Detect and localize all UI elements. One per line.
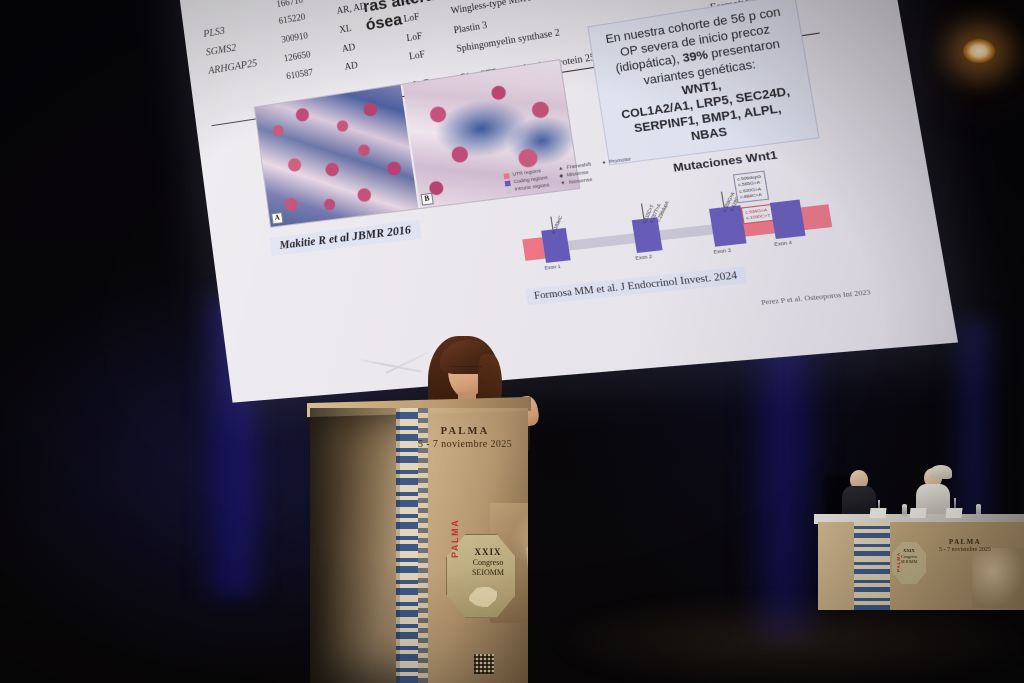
- congress-logo-vertical-palma: PALMA: [450, 519, 460, 558]
- panel-head-table: XXIX Congreso SEIOMM PALMA PALMA 5 - 7 n…: [818, 470, 1024, 610]
- legend-marker-item: ● Promoter: [602, 156, 631, 167]
- legend-marker-nonsense: Nonsense: [568, 176, 592, 186]
- cohort-callout-box: En nuestra cohorte de 56 p con OP severa…: [587, 0, 819, 165]
- table-logo-vertical-palma: PALMA: [896, 552, 901, 572]
- histology-panel-a: A: [255, 85, 418, 227]
- citation-makitie: Makitie R et al JBMR 2016: [270, 220, 422, 256]
- speaker-glasses: [452, 366, 482, 374]
- wnt1-gene-diagram: Exon 1 c.-18delC Exon 2 c.110C>T c.287T>…: [519, 182, 835, 278]
- congress-logo-text: XXIX Congreso SEIOMM: [459, 547, 517, 577]
- congress-edition: XXIX: [459, 547, 517, 558]
- podium-shadow-side: [310, 408, 400, 683]
- exon-block-4: [770, 200, 806, 239]
- projection-screen: genéticas de osteoporosis ras alteracion…: [177, 0, 958, 403]
- legend-marker-promoter: Promoter: [609, 156, 632, 166]
- legend-swatch-utr: [503, 173, 509, 179]
- citation-perez: Perez P et al. Osteoporos Int 2023: [761, 289, 872, 307]
- paper-document-left: [869, 508, 886, 518]
- exon-label-4: Exon 4: [774, 240, 793, 248]
- paper-document-right: [945, 508, 962, 518]
- mutbox-line-4: c.884C>A: [740, 191, 765, 200]
- cohort-percent: 39%: [682, 49, 709, 66]
- table-skirt-pattern: [854, 522, 890, 610]
- exon-label-2: Exon 2: [635, 254, 653, 261]
- auditorium-scene: genéticas de osteoporosis ras alteracion…: [0, 0, 1024, 683]
- congress-word-2: SEIOMM: [459, 568, 517, 578]
- panelist-right-hair: [930, 465, 952, 479]
- podium-dates: 5 - 7 noviembre 2025: [406, 439, 524, 450]
- table-event-text: PALMA 5 - 7 noviembre 2025: [934, 538, 996, 553]
- promoter-marker-icon: ●: [602, 159, 606, 167]
- histology-label-a: A: [271, 212, 283, 224]
- table-location: PALMA: [934, 538, 996, 546]
- water-bottle-left: [902, 504, 907, 516]
- table-skirt-city-artwork: [972, 548, 1024, 608]
- water-bottle-right: [976, 504, 981, 516]
- slide-surface: genéticas de osteoporosis ras alteracion…: [177, 0, 958, 403]
- qr-code: [474, 654, 494, 674]
- exon-label-1: Exon 1: [544, 264, 561, 271]
- legend-swatch-coding: [505, 180, 511, 186]
- podium-event-text: PALMA 5 - 7 noviembre 2025: [406, 426, 524, 450]
- mutbox-red-line-2: c.1090C>T: [746, 213, 771, 222]
- legend-swatch-intronic: [506, 188, 512, 194]
- congress-word-1: Congreso: [459, 558, 517, 568]
- nonsense-marker-icon: ▼: [560, 180, 566, 188]
- cohort-genes-4: NBAS: [690, 126, 728, 144]
- mutation-box-standard: c.506dupG c.565G>A c.620G>A c.884C>A: [733, 171, 769, 203]
- paper-document-center: [909, 508, 926, 518]
- cathedral-illustration: [526, 521, 528, 597]
- stage-spotlight: [963, 39, 995, 63]
- histology-label-b: B: [421, 193, 434, 206]
- podium-location: PALMA: [406, 426, 524, 437]
- exon-label-3: Exon 3: [713, 247, 731, 254]
- table-dates: 5 - 7 noviembre 2025: [934, 547, 996, 553]
